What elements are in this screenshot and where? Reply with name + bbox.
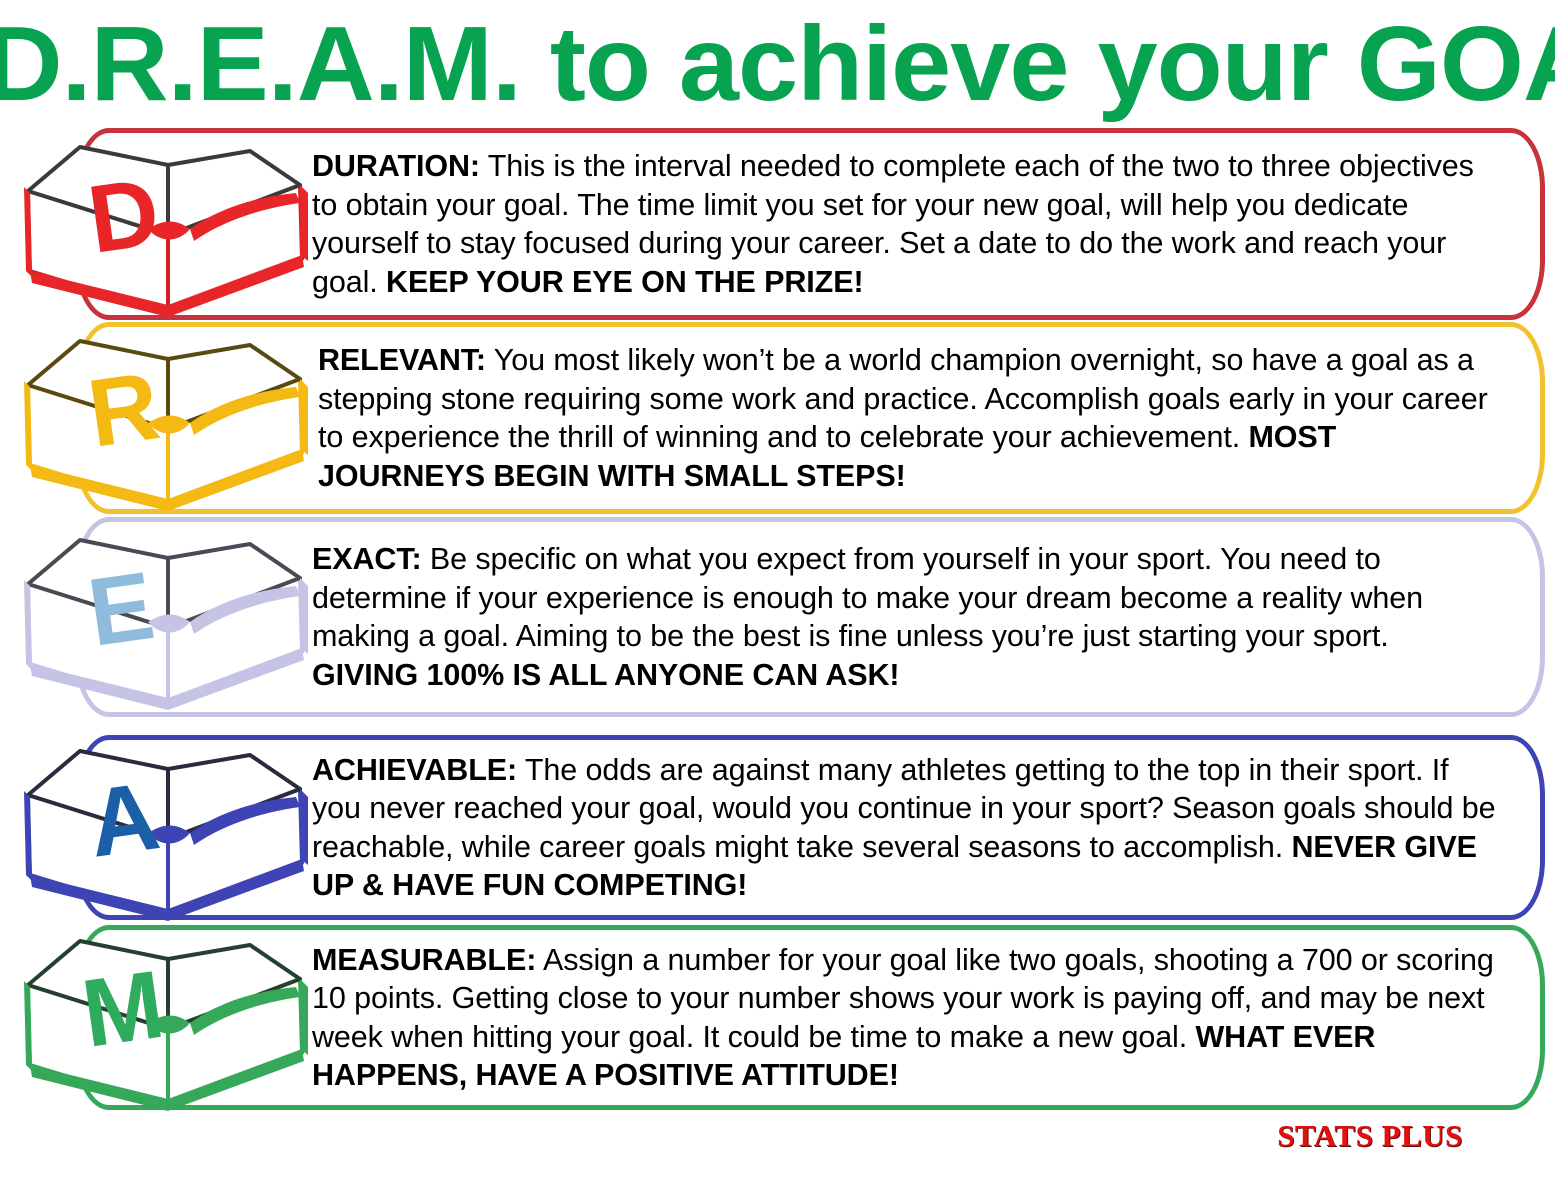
section-text-exact: EXACT: Be specific on what you expect fr…	[312, 540, 1483, 694]
section-keyword: EXACT:	[312, 542, 422, 576]
open-book-icon-achievable: A	[18, 735, 310, 921]
page-title: D.R.E.A.M. to achieve your GOALS	[0, 8, 1555, 120]
section-text-achievable: ACHIEVABLE: The odds are against many at…	[312, 751, 1497, 905]
section-row-exact: E EXACT: Be specific on what you expect …	[0, 517, 1555, 717]
section-row-achievable: A ACHIEVABLE: The odds are against many …	[0, 735, 1555, 920]
section-keyword: ACHIEVABLE:	[312, 753, 517, 787]
open-book-icon-relevant: R	[18, 325, 310, 511]
section-row-duration: D DURATION: This is the interval needed …	[0, 128, 1555, 320]
section-keyword: MEASURABLE:	[312, 943, 536, 977]
section-body: Be specific on what you expect from your…	[312, 542, 1423, 653]
open-book-icon-measurable: M	[18, 925, 310, 1111]
section-text-relevant: RELEVANT: You most likely won’t be a wor…	[318, 341, 1489, 495]
svg-text:D: D	[82, 158, 166, 274]
stats-plus-logo: STATS PLUS	[1255, 1118, 1485, 1154]
svg-text:A: A	[82, 762, 166, 878]
section-keyword: RELEVANT:	[318, 343, 486, 377]
section-keyword: DURATION:	[312, 149, 480, 183]
section-tagline: KEEP YOUR EYE ON THE PRIZE!	[386, 265, 864, 299]
open-book-icon-exact: E	[18, 524, 310, 710]
section-row-measurable: M MEASURABLE: Assign a number for your g…	[0, 925, 1555, 1110]
section-text-duration: DURATION: This is the interval needed to…	[312, 147, 1485, 301]
section-tagline: GIVING 100% IS ALL ANYONE CAN ASK!	[312, 658, 900, 692]
svg-text:R: R	[82, 352, 166, 468]
open-book-icon-duration: D	[18, 131, 310, 317]
section-text-measurable: MEASURABLE: Assign a number for your goa…	[312, 941, 1497, 1095]
section-row-relevant: R RELEVANT: You most likely won’t be a w…	[0, 322, 1555, 514]
svg-text:M: M	[76, 950, 170, 1067]
